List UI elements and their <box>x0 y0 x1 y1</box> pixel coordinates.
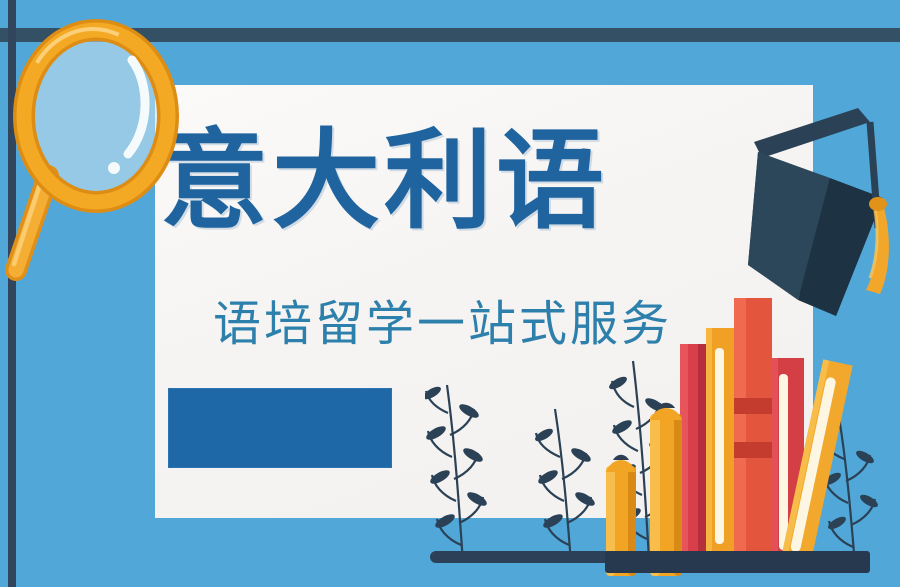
page-title: 意大利语 <box>160 128 700 236</box>
info-box-text <box>168 388 392 468</box>
info-box[interactable] <box>168 388 392 468</box>
magnifying-glass-icon <box>4 8 194 308</box>
poster-root: 意大利语 语培留学一站式服务 <box>0 0 900 587</box>
page-subtitle: 语培留学一站式服务 <box>213 300 672 348</box>
shelf-block <box>605 551 870 573</box>
